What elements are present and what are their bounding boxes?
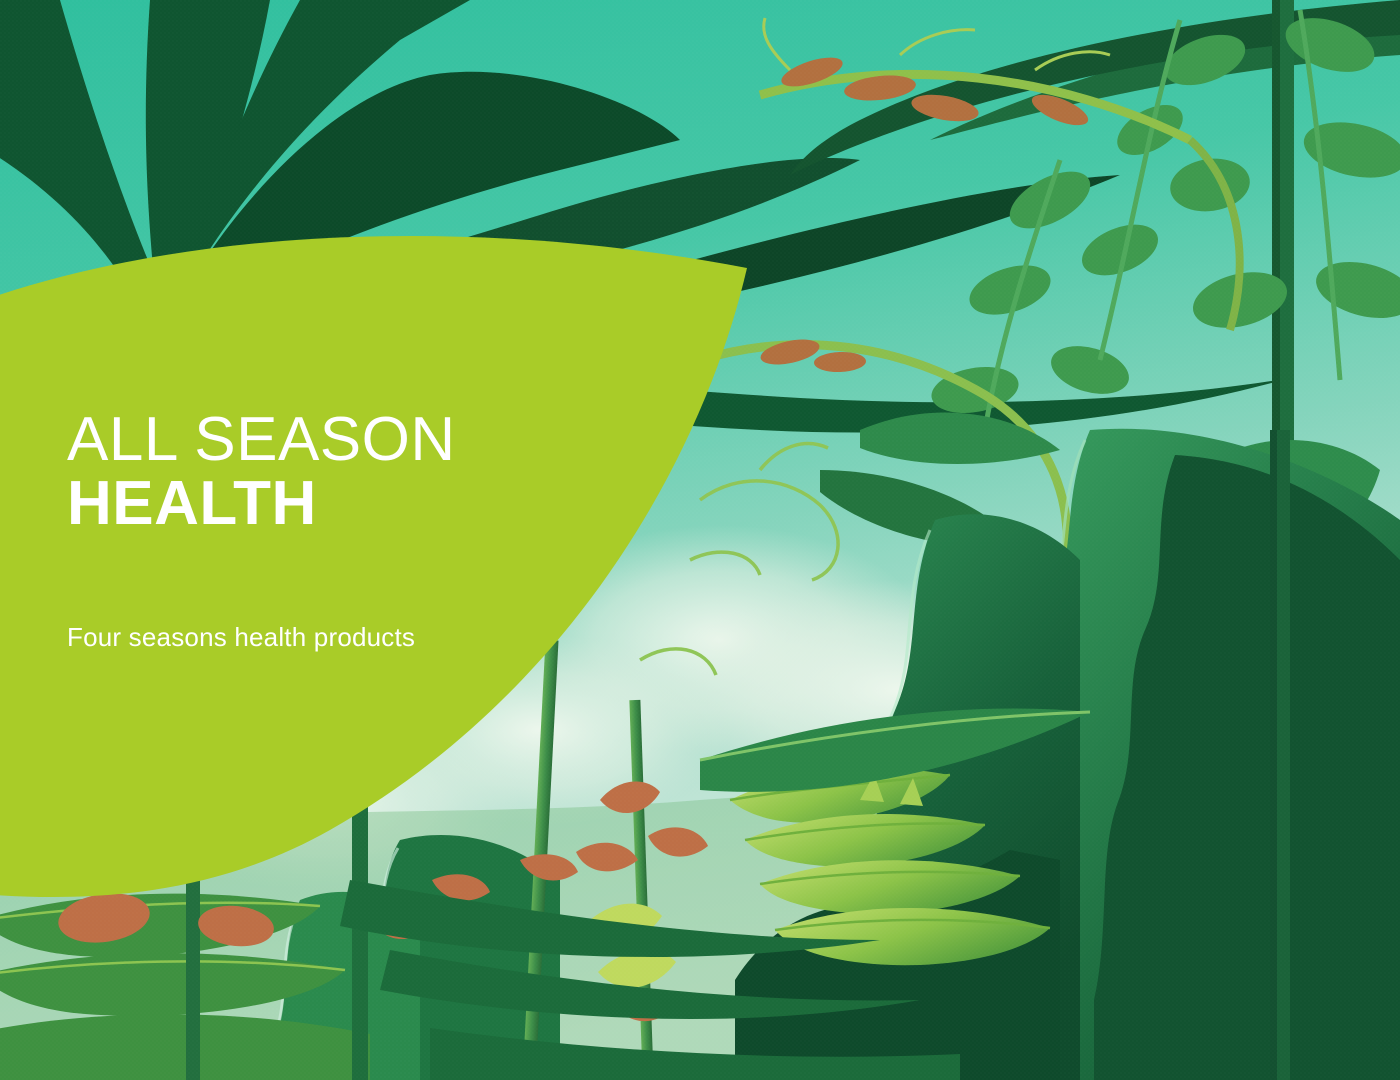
leaf-badge-path [0, 236, 747, 897]
hero-poster: ALL SEASON HEALTH Four seasons health pr… [0, 0, 1400, 1080]
leaf-shape-badge [0, 0, 1400, 1080]
